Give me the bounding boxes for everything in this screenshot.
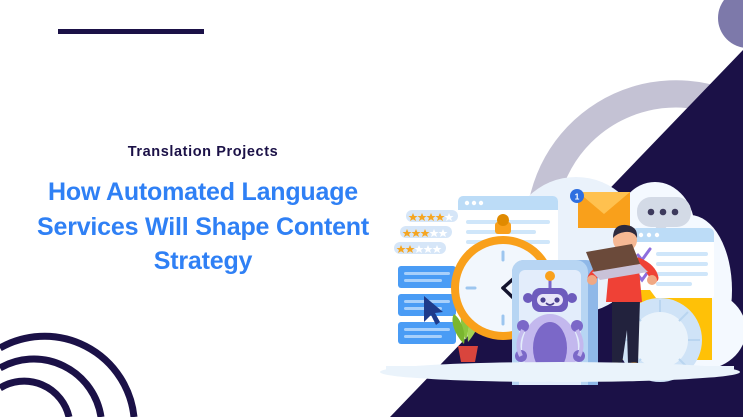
ground-plane bbox=[380, 362, 740, 382]
navy-rule bbox=[58, 29, 204, 34]
email-badge-count: 1 bbox=[575, 192, 580, 202]
rating-badge-1 bbox=[406, 210, 458, 222]
email-envelope: 1 bbox=[570, 189, 630, 228]
rating-badge-3 bbox=[394, 242, 446, 254]
blog-banner: 1 bbox=[0, 0, 743, 417]
rating-badges bbox=[394, 210, 458, 254]
rating-badge-2 bbox=[400, 226, 452, 238]
eyebrow-label: Translation Projects bbox=[8, 144, 398, 161]
page-title: How Automated Language Services Will Sha… bbox=[8, 175, 398, 279]
smartphone-robot bbox=[512, 260, 598, 408]
headline-block: Translation Projects How Automated Langu… bbox=[8, 144, 398, 279]
